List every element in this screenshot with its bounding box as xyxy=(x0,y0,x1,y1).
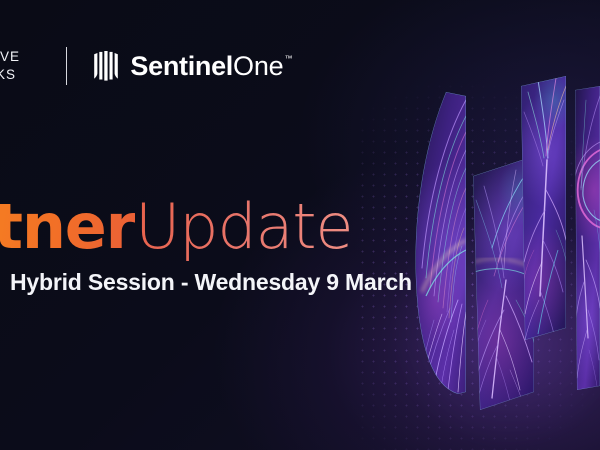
dot-grid-pattern xyxy=(355,0,600,450)
sentinelone-shield-icon xyxy=(93,51,119,81)
exclusive-logo-line-2: WORKS xyxy=(0,67,16,82)
sentinelone-wordmark: Sentinel One ™ xyxy=(130,53,292,80)
artwork-panel-2 xyxy=(458,150,546,416)
artwork-panel-1 xyxy=(406,80,494,410)
partner-update-banner: LUSIVE WORKS Sentinel One ™ rtnerUpdate … xyxy=(0,0,600,450)
exclusive-logo-line-1: LUSIVE xyxy=(0,49,20,64)
title-light-part: Update xyxy=(135,190,352,263)
trademark-symbol: ™ xyxy=(284,55,292,63)
logo-lockup: LUSIVE WORKS Sentinel One ™ xyxy=(0,42,292,90)
sentinelone-name-light: One xyxy=(233,53,283,80)
sentinelone-name-bold: Sentinel xyxy=(130,53,233,80)
exclusive-networks-logo: LUSIVE WORKS xyxy=(0,43,50,89)
event-subtitle: Hybrid Session - Wednesday 9 March xyxy=(10,269,412,296)
page-title: rtnerUpdate xyxy=(0,196,352,259)
title-bold-part: rtner xyxy=(0,190,135,263)
neon-fractal-artwork xyxy=(388,0,600,450)
artwork-panels-svg xyxy=(388,0,600,450)
sentinelone-logo: Sentinel One ™ xyxy=(93,51,292,81)
artwork-panel-3 xyxy=(506,70,580,350)
artwork-panel-4 xyxy=(558,82,600,394)
logo-divider xyxy=(66,47,67,85)
